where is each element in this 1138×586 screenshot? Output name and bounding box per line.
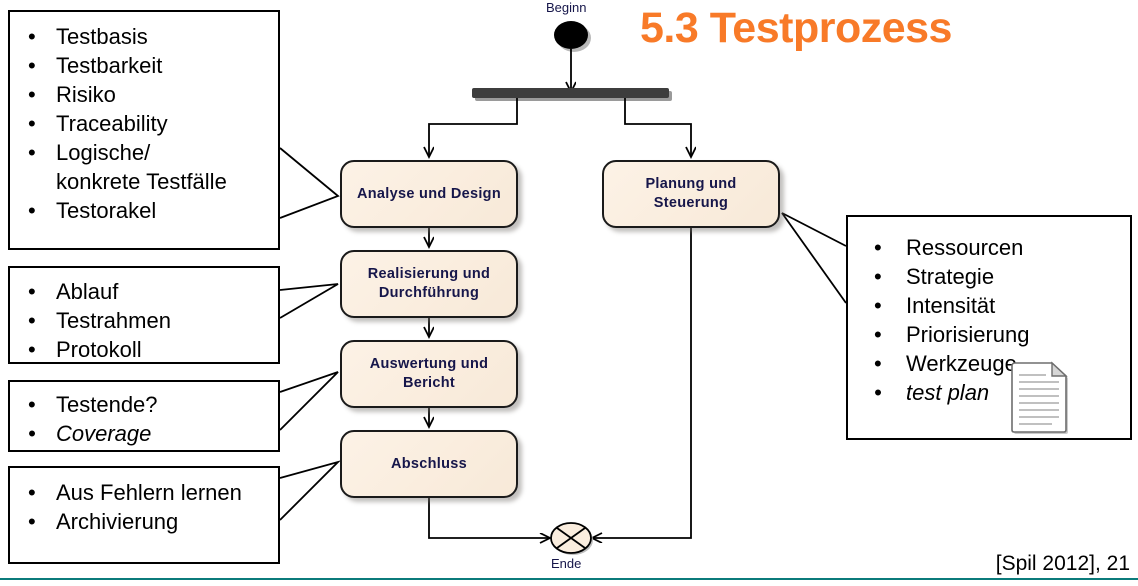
note-item-text: konkrete Testfälle xyxy=(56,169,227,194)
callout-note-abschluss: •Aus Fehlern lernen•Archivierung xyxy=(8,466,280,564)
callout-note-auswertung: •Testende?•Coverage xyxy=(8,380,280,452)
note-list-item: •Protokoll xyxy=(10,335,278,364)
note-item-text: Testrahmen xyxy=(56,308,171,333)
callout-tail-analyse xyxy=(280,148,338,218)
callout-tail-abschluss xyxy=(280,462,338,520)
slide-canvas: 5.3 Testprozess Beginn Ende Analyse und … xyxy=(0,0,1138,586)
note-item-text: Testbasis xyxy=(56,24,148,49)
note-list-item: •Archivierung xyxy=(10,507,278,536)
note-list-item: •Ablauf xyxy=(10,277,278,306)
note-list-item: •Testende? xyxy=(10,390,278,419)
footer-reference: [Spil 2012], 21 xyxy=(996,552,1130,576)
activity-node-abschluss[interactable]: Abschluss xyxy=(340,430,518,498)
note-list-item: •Testorakel xyxy=(10,196,278,225)
activity-label: Realisierung und Durchführung xyxy=(368,265,490,303)
note-list-item: •Aus Fehlern lernen xyxy=(10,478,278,507)
callout-tail-realisierung xyxy=(280,284,338,318)
note-item-text: Protokoll xyxy=(56,337,142,362)
bullet-icon: • xyxy=(874,378,882,407)
bullet-icon: • xyxy=(28,306,36,335)
edge-abschluss-to-ende xyxy=(429,498,550,538)
note-list-item: •Werkzeuge xyxy=(848,349,1130,378)
note-item-text: Ablauf xyxy=(56,279,118,304)
edge-planung-to-ende xyxy=(592,228,691,538)
note-list-item: •Testbasis xyxy=(10,22,278,51)
note-list-item: •Testbarkeit xyxy=(10,51,278,80)
bullet-icon: • xyxy=(28,80,36,109)
footer-rule-divider xyxy=(0,578,1138,580)
note-item-text: Testbarkeit xyxy=(56,53,162,78)
edge-fork-to-analyse xyxy=(429,98,517,157)
callout-note-planung: •Ressourcen•Strategie•Intensität•Prioris… xyxy=(846,215,1132,440)
note-list: •Testbasis•Testbarkeit•Risiko•Traceabili… xyxy=(10,22,278,225)
bullet-icon: • xyxy=(28,390,36,419)
note-list-item: •Logische/ xyxy=(10,138,278,167)
note-list-item: •Intensität xyxy=(848,291,1130,320)
note-list-item: •Coverage xyxy=(10,419,278,448)
note-list-item: •Traceability xyxy=(10,109,278,138)
note-list-item: konkrete Testfälle xyxy=(10,167,278,196)
note-item-text: Werkzeuge xyxy=(906,351,1017,376)
note-list: •Ablauf•Testrahmen•Protokoll xyxy=(10,277,278,364)
bullet-icon: • xyxy=(28,22,36,51)
bullet-icon: • xyxy=(28,419,36,448)
bullet-icon: • xyxy=(874,349,882,378)
note-item-text: Testorakel xyxy=(56,198,156,223)
activity-label: Planung und Steuerung xyxy=(645,175,736,213)
start-node-icon xyxy=(554,21,588,49)
callout-note-analyse: •Testbasis•Testbarkeit•Risiko•Traceabili… xyxy=(8,10,280,250)
note-item-text: test plan xyxy=(906,380,989,405)
note-item-text: Risiko xyxy=(56,82,116,107)
activity-node-planung[interactable]: Planung und Steuerung xyxy=(602,160,780,228)
note-list: •Testende?•Coverage xyxy=(10,390,278,448)
bullet-icon: • xyxy=(28,51,36,80)
note-item-text: Logische/ xyxy=(56,140,150,165)
start-node-label: Beginn xyxy=(546,0,586,15)
activity-node-analyse[interactable]: Analyse und Design xyxy=(340,160,518,228)
callout-tail-auswertung xyxy=(280,372,338,430)
activity-label: Abschluss xyxy=(391,455,467,474)
activity-label: Auswertung und Bericht xyxy=(370,355,489,393)
note-item-text: Ressourcen xyxy=(906,235,1023,260)
fork-bar-icon xyxy=(472,88,669,98)
note-item-text: Intensität xyxy=(906,293,995,318)
callout-note-realisierung: •Ablauf•Testrahmen•Protokoll xyxy=(8,266,280,364)
note-item-text: Traceability xyxy=(56,111,168,136)
note-item-text: Coverage xyxy=(56,421,151,446)
callout-tail-planung xyxy=(782,213,846,303)
note-list: •Aus Fehlern lernen•Archivierung xyxy=(10,478,278,536)
bullet-icon: • xyxy=(28,196,36,225)
note-list-item: •Strategie xyxy=(848,262,1130,291)
note-item-text: Archivierung xyxy=(56,509,178,534)
note-item-text: Priorisierung xyxy=(906,322,1030,347)
bullet-icon: • xyxy=(874,320,882,349)
bullet-icon: • xyxy=(874,262,882,291)
bullet-icon: • xyxy=(28,109,36,138)
note-list: •Ressourcen•Strategie•Intensität•Prioris… xyxy=(848,233,1130,407)
bullet-icon: • xyxy=(874,291,882,320)
end-node-label: Ende xyxy=(551,556,581,571)
edge-fork-to-planung xyxy=(625,98,691,157)
note-list-item: •Priorisierung xyxy=(848,320,1130,349)
bullet-icon: • xyxy=(28,138,36,167)
note-list-item: •Risiko xyxy=(10,80,278,109)
bullet-icon: • xyxy=(28,478,36,507)
note-list-item: •Ressourcen xyxy=(848,233,1130,262)
activity-node-realisierung[interactable]: Realisierung und Durchführung xyxy=(340,250,518,318)
bullet-icon: • xyxy=(28,335,36,364)
activity-label: Analyse und Design xyxy=(357,185,501,204)
bullet-icon: • xyxy=(874,233,882,262)
note-item-text: Aus Fehlern lernen xyxy=(56,480,242,505)
document-icon xyxy=(1008,360,1070,434)
note-item-text: Testende? xyxy=(56,392,158,417)
bullet-icon: • xyxy=(28,507,36,536)
page-title: 5.3 Testprozess xyxy=(640,4,952,53)
note-list-item: •test plan xyxy=(848,378,1130,407)
activity-node-auswertung[interactable]: Auswertung und Bericht xyxy=(340,340,518,408)
note-list-item: •Testrahmen xyxy=(10,306,278,335)
bullet-icon: • xyxy=(28,277,36,306)
note-item-text: Strategie xyxy=(906,264,994,289)
